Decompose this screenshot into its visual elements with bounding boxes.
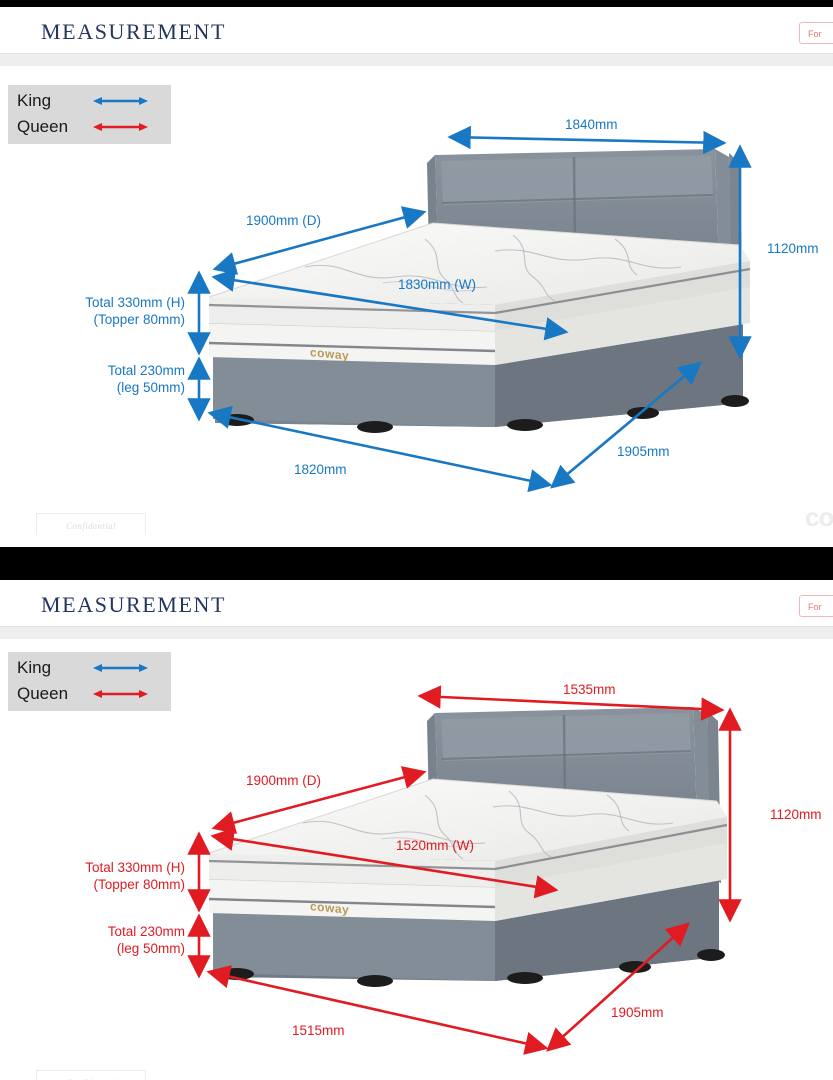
measurement-spec-page: MEASUREMENT For King Queen <box>0 0 833 1080</box>
legend-label-king: King <box>17 91 93 111</box>
confidential-watermark: Confidential <box>36 1070 146 1080</box>
slide-header-queen: MEASUREMENT For <box>0 580 833 628</box>
for-button[interactable]: For <box>799 595 833 617</box>
dim-mattress-width: 1520mm (W) <box>396 838 474 855</box>
slide-queen: MEASUREMENT For King Queen <box>0 580 833 1080</box>
dim-total-height: 1120mm <box>767 241 819 258</box>
legend-item-queen: Queen <box>17 681 148 707</box>
legend-item-king: King <box>17 655 148 681</box>
dim-base-depth: 1905mm <box>617 444 670 461</box>
dim-lower-height: Total 230mm <box>0 363 185 380</box>
dim-mattress-width: 1830mm (W) <box>398 277 476 294</box>
dim-depth: 1900mm (D) <box>246 773 321 790</box>
brand-watermark: co <box>805 502 833 533</box>
header-divider-band <box>0 627 833 639</box>
page-title: MEASUREMENT <box>41 19 226 45</box>
double-arrow-icon <box>93 121 148 133</box>
legend-item-queen: Queen <box>17 114 148 140</box>
double-arrow-icon <box>93 662 148 674</box>
dim-base-width: 1515mm <box>292 1023 345 1040</box>
legend-box-queen: King Queen <box>8 652 171 711</box>
top-black-band <box>0 0 833 7</box>
dim-headboard-width: 1840mm <box>565 117 618 134</box>
legend-box-king: King Queen <box>8 85 171 144</box>
bed-illustration-queen: coway <box>195 685 740 1045</box>
dim-headboard-width: 1535mm <box>563 682 616 699</box>
legend-label-king: King <box>17 658 93 678</box>
dim-lower-height-sub: (leg 50mm) <box>0 941 185 958</box>
legend-label-queen: Queen <box>17 684 93 704</box>
dim-upper-height-sub: (Topper 80mm) <box>0 312 185 329</box>
for-button[interactable]: For <box>799 22 833 44</box>
dim-upper-height-sub: (Topper 80mm) <box>0 877 185 894</box>
legend-item-king: King <box>17 88 148 114</box>
dim-upper-height: Total 330mm (H) <box>0 860 185 877</box>
dim-base-width: 1820mm <box>294 462 347 479</box>
header-divider-band <box>0 54 833 66</box>
dim-total-height: 1120mm <box>770 807 822 824</box>
page-title: MEASUREMENT <box>41 592 226 618</box>
legend-label-queen: Queen <box>17 117 93 137</box>
dim-depth: 1900mm (D) <box>246 213 321 230</box>
confidential-watermark: Confidential <box>36 513 146 535</box>
double-arrow-icon <box>93 95 148 107</box>
slide-king: MEASUREMENT For King Queen <box>0 7 833 535</box>
dim-lower-height-sub: (leg 50mm) <box>0 380 185 397</box>
slide-header-king: MEASUREMENT For <box>0 7 833 55</box>
double-arrow-icon <box>93 688 148 700</box>
slide-separator-band <box>0 547 833 580</box>
dim-upper-height: Total 330mm (H) <box>0 295 185 312</box>
dim-base-depth: 1905mm <box>611 1005 664 1022</box>
bed-illustration-king: coway <box>195 127 765 497</box>
dim-lower-height: Total 230mm <box>0 924 185 941</box>
